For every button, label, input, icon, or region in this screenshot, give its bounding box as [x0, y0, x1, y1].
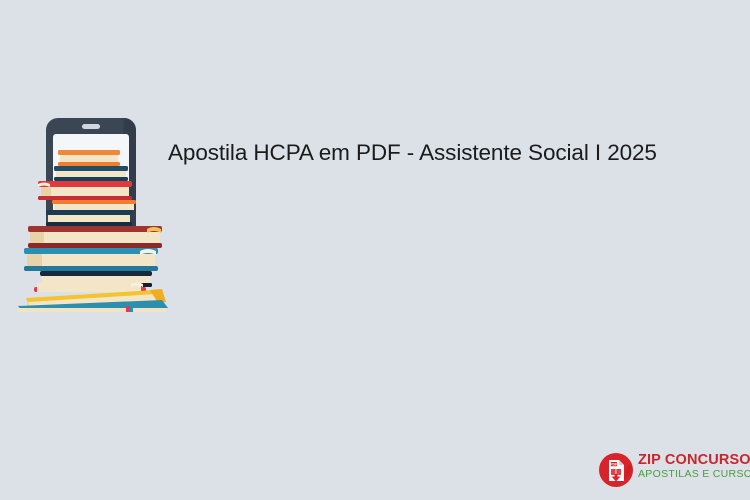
bookmark-ribbon-icon: [126, 306, 133, 312]
stack-of-books-with-tablet-illustration: [10, 112, 175, 312]
brand-name: ZIP CONCURSOS: [638, 452, 744, 468]
book-layer-teal: [24, 248, 158, 271]
product-title: Apostila HCPA em PDF - Assistente Social…: [168, 138, 728, 168]
pdf-download-badge-icon: PDF: [598, 452, 634, 488]
book-layer-crimson: [34, 283, 146, 293]
brand-logo: PDF ZIP CONCURSOS APOSTILAS E CURSOS: [598, 449, 744, 491]
brand-tagline: APOSTILAS E CURSOS: [638, 468, 744, 481]
svg-text:PDF: PDF: [610, 462, 617, 466]
book-layer-dark-navy: [46, 210, 132, 226]
book-layer-red: [38, 181, 132, 200]
brand-text-block: ZIP CONCURSOS APOSTILAS E CURSOS: [638, 452, 744, 481]
book-layer-navy: [54, 166, 128, 181]
book-layer-orange-thin: [52, 200, 136, 210]
book-layer-dark-red: [28, 226, 162, 248]
book-layer-orange-top: [58, 150, 120, 166]
product-banner: Apostila HCPA em PDF - Assistente Social…: [0, 0, 750, 500]
